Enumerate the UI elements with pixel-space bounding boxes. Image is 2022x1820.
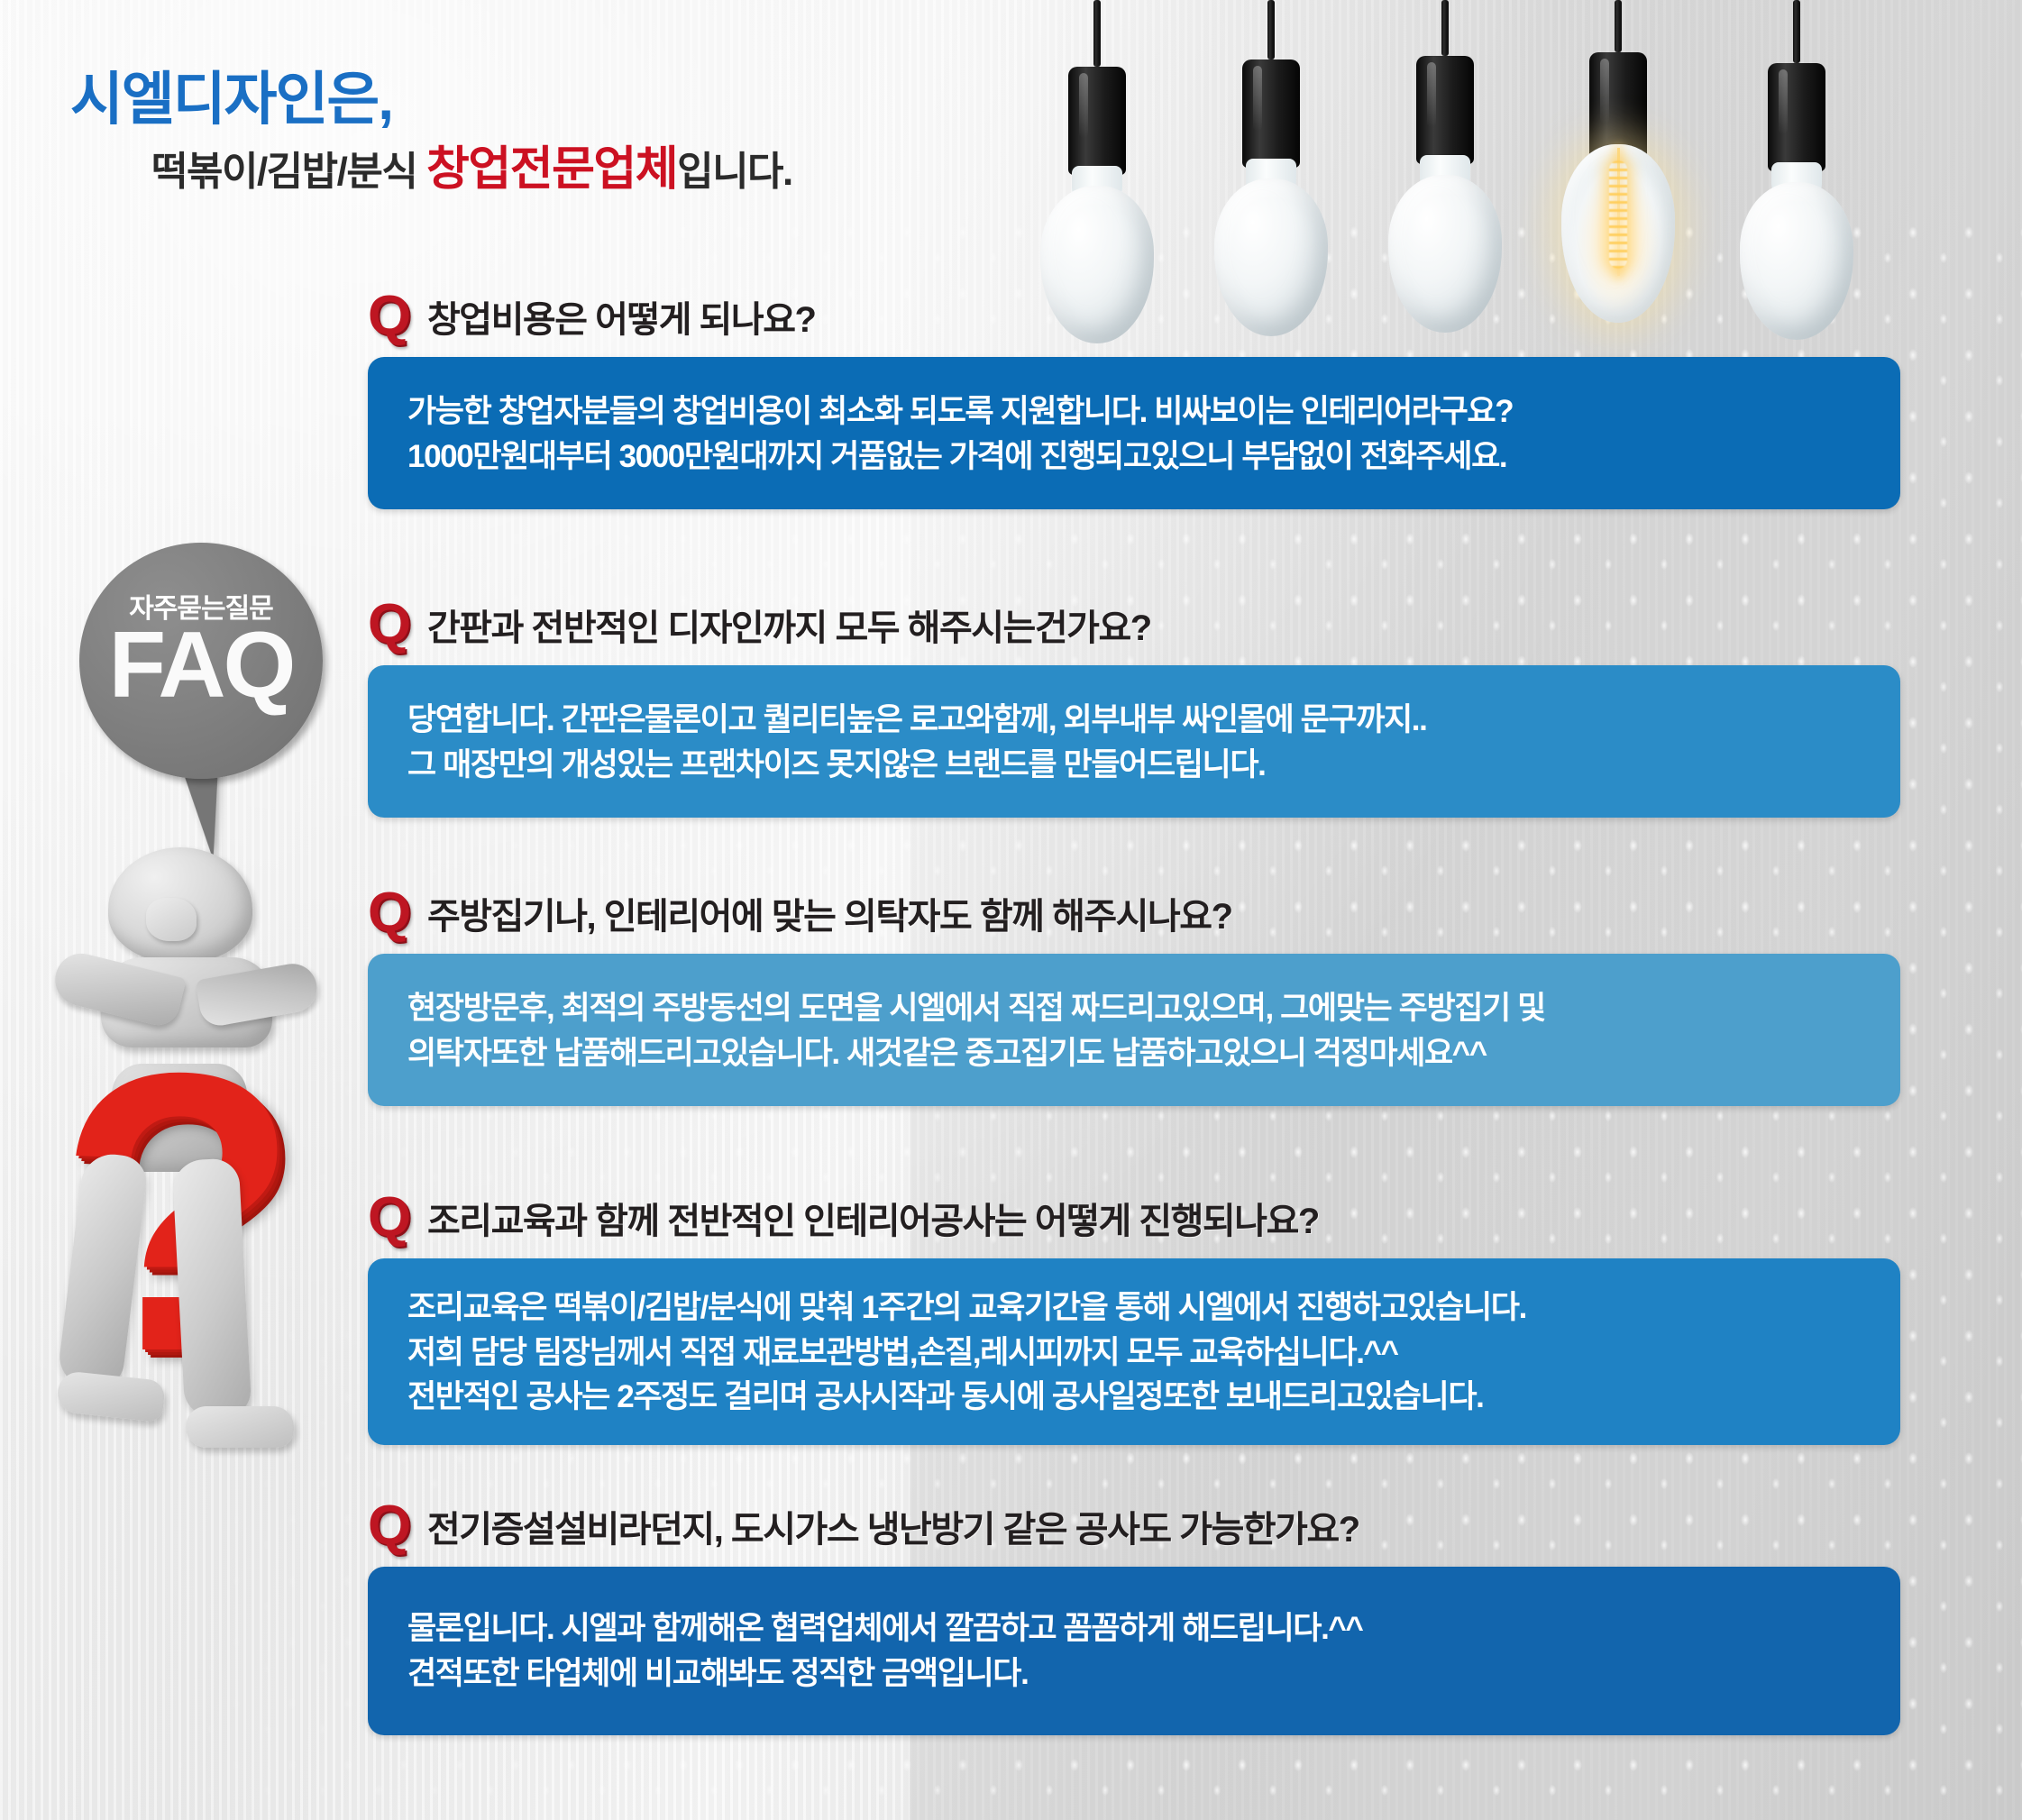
- faq-answer-box-4: 조리교육은 떡볶이/김밥/분식에 맞춰 1주간의 교육기간을 통해 시엘에서 진…: [368, 1258, 1900, 1445]
- faq-answer-box-2: 당연합니다. 간판은물론이고 퀄리티높은 로고와함께, 외부내부 싸인몰에 문구…: [368, 665, 1900, 818]
- faq-list: Q 창업비용은 어떻게 되나요? 가능한 창업자분들의 창업비용이 최소화 되도…: [0, 0, 2022, 1820]
- faq-answer-box-1: 가능한 창업자분들의 창업비용이 최소화 되도록 지원합니다. 비싸보이는 인테…: [368, 357, 1900, 509]
- faq-answer-box-3: 현장방문후, 최적의 주방동선의 도면을 시엘에서 직접 짜드리고있으며, 그에…: [368, 954, 1900, 1106]
- faq-answer-box-5: 물론입니다. 시엘과 함께해온 협력업체에서 깔끔하고 꼼꼼하게 해드립니다.^…: [368, 1567, 1900, 1735]
- faq-question-text-2: 간판과 전반적인 디자인까지 모두 해주시는건가요?: [427, 599, 1151, 651]
- faq-item-3[interactable]: Q 주방집기나, 인테리어에 맞는 의탁자도 함께 해주시나요? 현장방문후, …: [368, 883, 1900, 1106]
- faq-question-text-1: 창업비용은 어떻게 되나요?: [427, 290, 815, 343]
- faq-answer-line: 당연합니다. 간판은물론이고 퀄리티높은 로고와함께, 외부내부 싸인몰에 문구…: [407, 698, 1864, 743]
- faq-question-row-4[interactable]: Q 조리교육과 함께 전반적인 인테리어공사는 어떻게 진행되나요?: [368, 1188, 1900, 1248]
- faq-answer-line: 전반적인 공사는 2주정도 걸리며 공사시작과 동시에 공사일정또한 보내드리고…: [407, 1375, 1864, 1420]
- faq-item-5[interactable]: Q 전기증설설비라던지, 도시가스 냉난방기 같은 공사도 가능한가요? 물론입…: [368, 1496, 1900, 1735]
- faq-question-row-5[interactable]: Q 전기증설설비라던지, 도시가스 냉난방기 같은 공사도 가능한가요?: [368, 1496, 1900, 1556]
- faq-question-text-3: 주방집기나, 인테리어에 맞는 의탁자도 함께 해주시나요?: [427, 887, 1232, 939]
- question-letter-icon: Q: [368, 1192, 418, 1245]
- question-letter-icon: Q: [368, 887, 418, 940]
- faq-item-4[interactable]: Q 조리교육과 함께 전반적인 인테리어공사는 어떻게 진행되나요? 조리교육은…: [368, 1188, 1900, 1445]
- question-letter-icon: Q: [368, 599, 418, 652]
- faq-question-text-5: 전기증설설비라던지, 도시가스 냉난방기 같은 공사도 가능한가요?: [427, 1500, 1359, 1552]
- faq-answer-line: 물론입니다. 시엘과 함께해온 협력업체에서 깔끔하고 꼼꼼하게 해드립니다.^…: [407, 1606, 1864, 1651]
- faq-question-row-3[interactable]: Q 주방집기나, 인테리어에 맞는 의탁자도 함께 해주시나요?: [368, 883, 1900, 943]
- faq-item-2[interactable]: Q 간판과 전반적인 디자인까지 모두 해주시는건가요? 당연합니다. 간판은물…: [368, 595, 1900, 818]
- faq-answer-line: 저희 담당 팀장님께서 직접 재료보관방법,손질,레시피까지 모두 교육하십니다…: [407, 1331, 1864, 1376]
- faq-answer-line: 견적또한 타업체에 비교해봐도 정직한 금액입니다.: [407, 1651, 1864, 1697]
- faq-answer-line: 조리교육은 떡볶이/김밥/분식에 맞춰 1주간의 교육기간을 통해 시엘에서 진…: [407, 1285, 1864, 1331]
- faq-answer-line: 의탁자또한 납품해드리고있습니다. 새것같은 중고집기도 납품하고있으니 걱정마…: [407, 1031, 1864, 1076]
- faq-answer-line: 현장방문후, 최적의 주방동선의 도면을 시엘에서 직접 짜드리고있으며, 그에…: [407, 986, 1864, 1031]
- poster-canvas: 시엘디자인은, 떡볶이/김밥/분식 창업전문업체입니다.: [0, 0, 2022, 1820]
- faq-answer-line: 그 매장만의 개성있는 프랜차이즈 못지않은 브랜드를 만들어드립니다.: [407, 743, 1864, 788]
- faq-question-row-1[interactable]: Q 창업비용은 어떻게 되나요?: [368, 287, 1900, 346]
- faq-answer-line: 1000만원대부터 3000만원대까지 거품없는 가격에 진행되고있으니 부담없…: [407, 434, 1864, 480]
- question-letter-icon: Q: [368, 1500, 418, 1553]
- faq-answer-line: 가능한 창업자분들의 창업비용이 최소화 되도록 지원합니다. 비싸보이는 인테…: [407, 389, 1864, 434]
- faq-question-text-4: 조리교육과 함께 전반적인 인테리어공사는 어떻게 진행되나요?: [427, 1192, 1319, 1244]
- faq-item-1[interactable]: Q 창업비용은 어떻게 되나요? 가능한 창업자분들의 창업비용이 최소화 되도…: [368, 287, 1900, 509]
- question-letter-icon: Q: [368, 290, 418, 343]
- faq-question-row-2[interactable]: Q 간판과 전반적인 디자인까지 모두 해주시는건가요?: [368, 595, 1900, 654]
